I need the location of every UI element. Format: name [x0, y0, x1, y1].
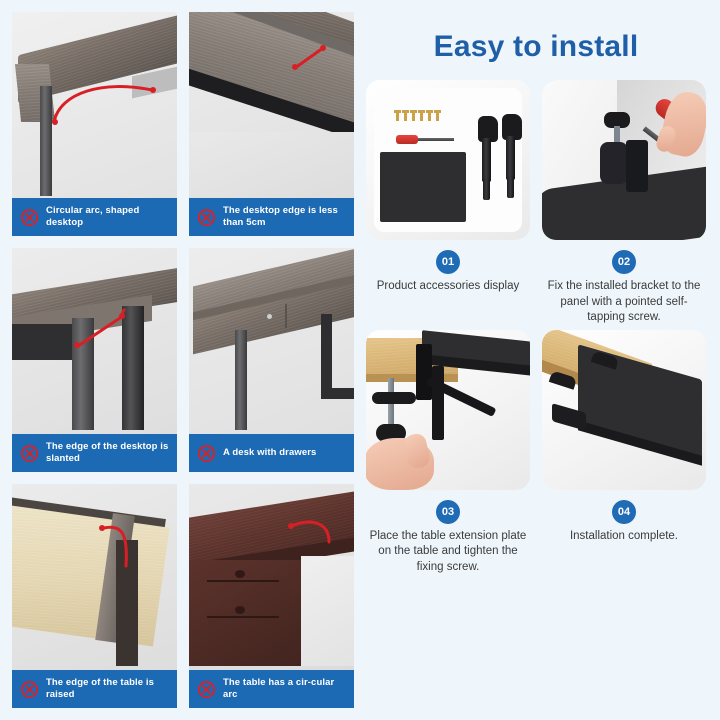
photo-fix-bracket-to-panel — [542, 80, 706, 240]
bad-row-3: The edge of the table is raised — [12, 484, 354, 708]
bad-card-slanted-edge[interactable]: The edge of the desktop is slanted — [12, 248, 177, 472]
caption-bar: A desk with drawers — [189, 434, 354, 472]
photo-slanted-desktop-edge — [12, 248, 177, 434]
step-description: Installation complete. — [568, 529, 680, 545]
bad-row-1: Circular arc, shaped desktop — [12, 12, 354, 236]
x-circle-icon — [20, 208, 39, 227]
x-circle-icon — [197, 680, 216, 699]
screw-set — [396, 110, 439, 121]
photo-raised-table-edge — [12, 484, 177, 670]
photo-accessories-display — [366, 80, 530, 240]
install-steps-panel: Easy to install — [360, 0, 720, 720]
step-description: Fix the installed bracket to the panel w… — [542, 279, 706, 326]
step-04[interactable]: 04 Installation complete. — [542, 330, 706, 576]
step-number-badge: 03 — [436, 500, 460, 524]
steps-row-1: 01 Product accessories display — [366, 80, 706, 326]
step-description: Place the table extension plate on the t… — [366, 529, 530, 576]
steps-grid: 01 Product accessories display — [366, 80, 706, 710]
photo-circular-arc-desktop — [12, 12, 177, 198]
photo-installation-complete — [542, 330, 706, 490]
caption-text: The edge of the table is raised — [46, 677, 169, 701]
bracket-post — [432, 366, 444, 440]
step-01[interactable]: 01 Product accessories display — [366, 80, 530, 326]
step-03[interactable]: 03 Place the table extension plate on th… — [366, 330, 530, 576]
caption-bar: The edge of the table is raised — [12, 670, 177, 708]
x-circle-icon — [197, 444, 216, 463]
step-number-badge: 01 — [436, 250, 460, 274]
bad-card-desk-with-drawers[interactable]: A desk with drawers — [189, 248, 354, 472]
x-circle-icon — [20, 444, 39, 463]
screwdriver-shaft — [418, 138, 454, 141]
photo-desk-with-drawers — [189, 248, 354, 434]
caption-text: The desktop edge is less than 5cm — [223, 205, 346, 229]
caption-text: Circular arc, shaped desktop — [46, 205, 169, 229]
bad-card-thin-desktop-edge[interactable]: The desktop edge is less than 5cm — [189, 12, 354, 236]
caption-bar: Circular arc, shaped desktop — [12, 198, 177, 236]
caption-text: The edge of the desktop is slanted — [46, 441, 169, 465]
bad-card-circular-arc-desktop[interactable]: Circular arc, shaped desktop — [12, 12, 177, 236]
x-circle-icon — [20, 680, 39, 699]
clamp-pad — [372, 392, 416, 404]
step-description: Product accessories display — [375, 279, 522, 295]
bad-card-raised-edge[interactable]: The edge of the table is raised — [12, 484, 177, 708]
steps-row-2: 03 Place the table extension plate on th… — [366, 330, 706, 576]
caption-text: The table has a cir-cular arc — [223, 677, 346, 701]
caption-bar: The edge of the desktop is slanted — [12, 434, 177, 472]
bad-row-2: The edge of the desktop is slanted — [12, 248, 354, 472]
photo-place-plate-tighten-screw — [366, 330, 530, 490]
bracket-arm — [626, 140, 648, 192]
page-title: Easy to install — [366, 30, 706, 64]
photo-table-circular-arc — [189, 484, 354, 670]
extension-plate — [380, 152, 466, 222]
caption-text: A desk with drawers — [223, 447, 316, 459]
bracket-vertical — [416, 344, 432, 400]
step-02[interactable]: 02 Fix the installed bracket to the pane… — [542, 80, 706, 326]
unsuitable-desk-grid: Circular arc, shaped desktop — [0, 0, 360, 720]
product-infographic: Circular arc, shaped desktop — [0, 0, 720, 720]
caption-bar: The table has a cir-cular arc — [189, 670, 354, 708]
clamp-body — [600, 142, 628, 184]
caption-bar: The desktop edge is less than 5cm — [189, 198, 354, 236]
screwdriver-handle — [396, 135, 418, 144]
step-number-badge: 04 — [612, 500, 636, 524]
bad-card-circular-arc-table[interactable]: The table has a cir-cular arc — [189, 484, 354, 708]
step-number-badge: 02 — [612, 250, 636, 274]
x-circle-icon — [197, 208, 216, 227]
photo-thin-desktop-edge — [189, 12, 354, 198]
